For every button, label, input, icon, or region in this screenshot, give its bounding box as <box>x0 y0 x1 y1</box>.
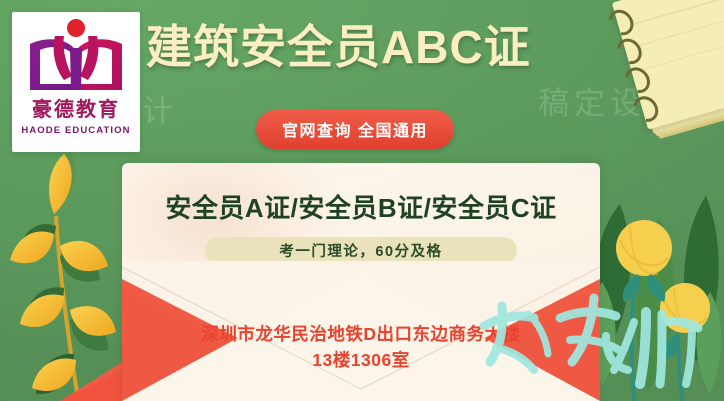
page-title: 建筑安全员ABC证 <box>146 24 531 70</box>
spiral-notebook-decoration <box>602 0 724 150</box>
brand-logo-card: 豪德教育 HAODE EDUCATION <box>12 12 140 152</box>
address-line-1: 深圳市龙华民治地铁D出口东边商务大楼 <box>122 321 600 347</box>
info-card: 安全员A证/安全员B证/安全员C证 考一门理论，60分及格 考点：深圳，广州，东… <box>122 163 600 401</box>
address-block: 深圳市龙华民治地铁D出口东边商务大楼 13楼1306室 <box>122 321 600 373</box>
open-book-logo-icon <box>24 18 128 102</box>
address-line-2: 13楼1306室 <box>122 347 600 373</box>
certificate-types-title: 安全员A证/安全员B证/安全员C证 <box>122 188 600 225</box>
logo-name-en: HAODE EDUCATION <box>21 125 130 136</box>
plant-right-decoration <box>586 196 724 401</box>
status-badge: 官网查询 全国通用 <box>256 110 454 149</box>
promo-banner: 稿定设计 稿定设计 稿定设计 <box>0 0 724 401</box>
exam-info-pill: 考一门理论，60分及格 <box>205 237 517 264</box>
logo-name-cn: 豪德教育 <box>32 100 120 120</box>
exam-location-pill: 考点：深圳，广州，东莞，珠海等 <box>205 272 517 299</box>
